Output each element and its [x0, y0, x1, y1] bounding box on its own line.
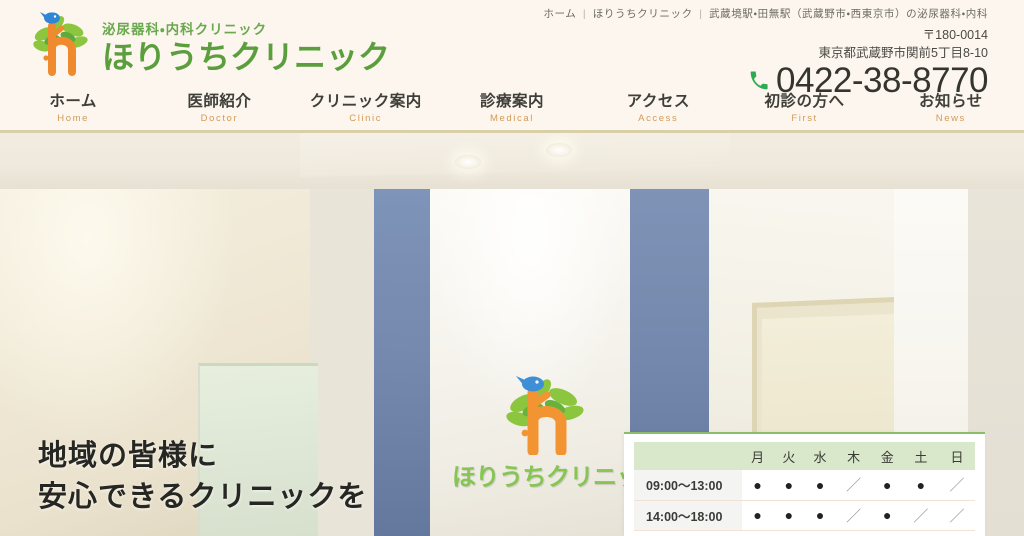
cell-afternoon-tue: ● — [773, 500, 804, 530]
nav-item-clinic-en: Clinic — [293, 113, 439, 124]
cell-morning-fri: ● — [872, 470, 903, 500]
postal-code: 〒180-0014 — [543, 26, 988, 44]
brand-name: ほりうちクリニック — [102, 39, 390, 76]
cell-morning-sun: ／ — [939, 470, 975, 500]
table-header-mon: 月 — [742, 442, 773, 470]
cell-afternoon-fri: ● — [872, 500, 903, 530]
nav-item-home[interactable]: ホーム Home — [0, 89, 146, 124]
wall-clinic-sign: ほりうちクリニック — [452, 369, 638, 492]
row-time-morning: 09:00〜13:00 — [634, 470, 742, 500]
tree-bird-logo-icon — [28, 6, 94, 78]
cell-afternoon-mon: ● — [742, 500, 773, 530]
table-header-fri: 金 — [872, 442, 903, 470]
nav-item-news-en: News — [878, 113, 1024, 124]
cell-afternoon-thu: ／ — [836, 500, 872, 530]
breadcrumb-item-clinic[interactable]: ほりうちクリニック — [593, 8, 693, 20]
table-head: 月 火 水 木 金 土 日 — [634, 442, 975, 470]
hero-catchphrase-line1: 地域の皆様に — [38, 436, 367, 477]
cell-afternoon-sun: ／ — [939, 500, 975, 530]
hero-catchphrase-line2: 安心できるクリニックを — [38, 477, 367, 518]
cell-morning-sat: ● — [903, 470, 939, 500]
table-body: 09:00〜13:00 ● ● ● ／ ● ● ／ 14:00〜18:00 ● … — [634, 470, 975, 530]
table-header-corner — [634, 442, 742, 470]
address: 東京都武蔵野市関前5丁目8-10 — [543, 44, 988, 62]
cell-afternoon-wed: ● — [804, 500, 835, 530]
header-contact: ホーム | ほりうちクリニック | 武蔵境駅・田無駅（武蔵野市・西東京市）の泌尿… — [543, 6, 988, 98]
nav-item-home-ja: ホーム — [0, 92, 146, 111]
brand-subtitle: 泌尿器科・内科クリニック — [102, 18, 390, 38]
table-header-wed: 水 — [804, 442, 835, 470]
table-header-sat: 土 — [903, 442, 939, 470]
table-row: 09:00〜13:00 ● ● ● ／ ● ● ／ — [634, 470, 975, 500]
breadcrumb: ホーム | ほりうちクリニック | 武蔵境駅・田無駅（武蔵野市・西東京市）の泌尿… — [543, 6, 988, 21]
site-brand[interactable]: 泌尿器科・内科クリニック ほりうちクリニック — [28, 6, 390, 78]
page-root: 泌尿器科・内科クリニック ほりうちクリニック ホーム | ほりうちクリニック |… — [0, 0, 1024, 536]
wall-sign-tree-bird-logo-icon — [497, 369, 593, 455]
phone-number[interactable]: 0422-38-8770 — [776, 63, 988, 98]
nav-item-home-en: Home — [0, 113, 146, 124]
nav-item-access-en: Access — [585, 113, 731, 124]
table-header-sun: 日 — [939, 442, 975, 470]
cell-morning-wed: ● — [804, 470, 835, 500]
nav-item-clinic[interactable]: クリニック案内 Clinic — [293, 89, 439, 124]
table-row: 14:00〜18:00 ● ● ● ／ ● ／ ／ — [634, 500, 975, 530]
nav-item-doctor-en: Doctor — [146, 113, 292, 124]
telephone-row[interactable]: 0422-38-8770 — [543, 63, 988, 98]
consultation-hours-table: 月 火 水 木 金 土 日 09:00〜13:00 ● ● ● ／ ● ● — [634, 442, 975, 531]
nav-item-doctor[interactable]: 医師紹介 Doctor — [146, 89, 292, 124]
header-top: 泌尿器科・内科クリニック ほりうちクリニック ホーム | ほりうちクリニック |… — [0, 0, 1024, 88]
nav-item-clinic-ja: クリニック案内 — [293, 92, 439, 111]
nav-item-doctor-ja: 医師紹介 — [146, 92, 292, 111]
phone-icon — [749, 70, 769, 92]
breadcrumb-separator: | — [583, 8, 586, 20]
nav-item-medical-en: Medical — [439, 113, 585, 124]
consultation-hours-panel: 月 火 水 木 金 土 日 09:00〜13:00 ● ● ● ／ ● ● — [624, 432, 985, 536]
row-time-afternoon: 14:00〜18:00 — [634, 500, 742, 530]
table-header-row: 月 火 水 木 金 土 日 — [634, 442, 975, 470]
table-header-tue: 火 — [773, 442, 804, 470]
photo-blue-panel-left — [374, 155, 438, 536]
cell-afternoon-sat: ／ — [903, 500, 939, 530]
photo-downlight-1 — [455, 155, 481, 169]
cell-morning-mon: ● — [742, 470, 773, 500]
nav-item-first-en: First — [731, 113, 877, 124]
breadcrumb-separator-2: | — [699, 8, 702, 20]
hero-catchphrase: 地域の皆様に 安心できるクリニックを — [38, 436, 367, 518]
cell-morning-tue: ● — [773, 470, 804, 500]
breadcrumb-item-home[interactable]: ホーム — [543, 8, 576, 20]
breadcrumb-item-current: 武蔵境駅・田無駅（武蔵野市・西東京市）の泌尿器科・内科 — [709, 8, 988, 20]
table-header-thu: 木 — [836, 442, 872, 470]
site-header: 泌尿器科・内科クリニック ほりうちクリニック ホーム | ほりうちクリニック |… — [0, 0, 1024, 133]
cell-morning-thu: ／ — [836, 470, 872, 500]
photo-downlight-2 — [546, 143, 572, 157]
brand-text: 泌尿器科・内科クリニック ほりうちクリニック — [102, 6, 390, 76]
wall-sign-clinic-name: ほりうちクリニック — [452, 457, 638, 492]
